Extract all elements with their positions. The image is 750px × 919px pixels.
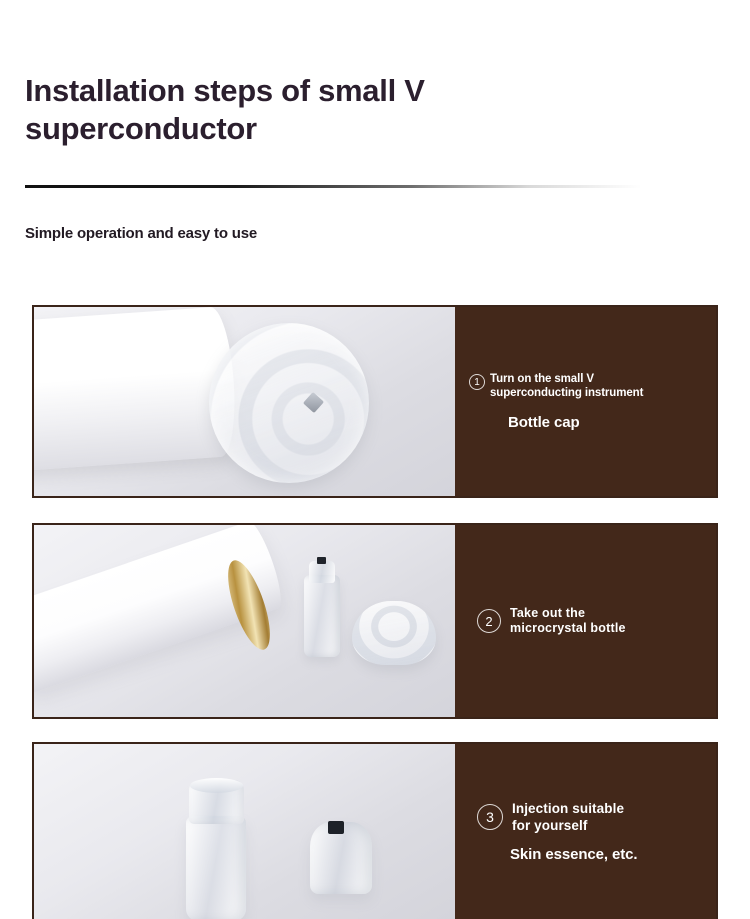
title-divider	[25, 185, 725, 188]
step-1-info: 1 Turn on the small V superconducting in…	[455, 307, 716, 496]
step-3-info: 3 Injection suitable for yourself Skin e…	[455, 744, 716, 919]
step-3-heading-row: 3 Injection suitable for yourself	[477, 800, 716, 834]
step-1-heading-row: 1 Turn on the small V superconducting in…	[469, 372, 716, 400]
step-3-photo	[34, 744, 455, 919]
step-1-emphasis: Bottle cap	[508, 414, 716, 431]
step-1-line-2: superconducting instrument	[490, 387, 643, 399]
step-panel-2: 2 Take out the microcrystal bottle	[32, 523, 718, 719]
step-1-line-1: Turn on the small V	[490, 373, 594, 385]
step-3-line-1: Injection suitable	[512, 801, 624, 816]
step-2-text: Take out the microcrystal bottle	[510, 606, 626, 637]
page-header: Installation steps of small V supercondu…	[0, 0, 750, 300]
microcrystal-vial-shape	[304, 575, 340, 657]
chip-shape	[328, 821, 344, 834]
step-2-heading-row: 2 Take out the microcrystal bottle	[477, 606, 716, 637]
step-2-line-1: Take out the	[510, 606, 585, 620]
bottle-lip-shape	[190, 778, 243, 793]
step-2-info: 2 Take out the microcrystal bottle	[455, 525, 716, 717]
step-3-text: Injection suitable for yourself	[512, 800, 624, 834]
microcrystal-bottle-shape	[186, 816, 246, 919]
page-title: Installation steps of small V supercondu…	[25, 72, 625, 148]
step-panel-1: 1 Turn on the small V superconducting in…	[32, 305, 718, 498]
page-subtitle: Simple operation and easy to use	[25, 225, 257, 242]
step-number-circle-2: 2	[477, 609, 501, 633]
clear-cap-shape	[352, 601, 436, 665]
step-1-photo	[34, 307, 455, 496]
step-panel-3: 3 Injection suitable for yourself Skin e…	[32, 742, 718, 919]
step-3-emphasis: Skin essence, etc.	[510, 846, 716, 863]
step-number-circle-3: 3	[477, 804, 503, 830]
vial-neck-shape	[309, 561, 335, 583]
step-1-text: Turn on the small V superconducting inst…	[490, 372, 643, 400]
chip-shape	[317, 557, 326, 564]
step-number-circle-1: 1	[469, 374, 485, 390]
step-3-line-2: for yourself	[512, 818, 587, 833]
step-2-photo	[34, 525, 455, 717]
clear-dome-cap-shape	[209, 323, 369, 483]
step-2-line-2: microcrystal bottle	[510, 621, 626, 635]
